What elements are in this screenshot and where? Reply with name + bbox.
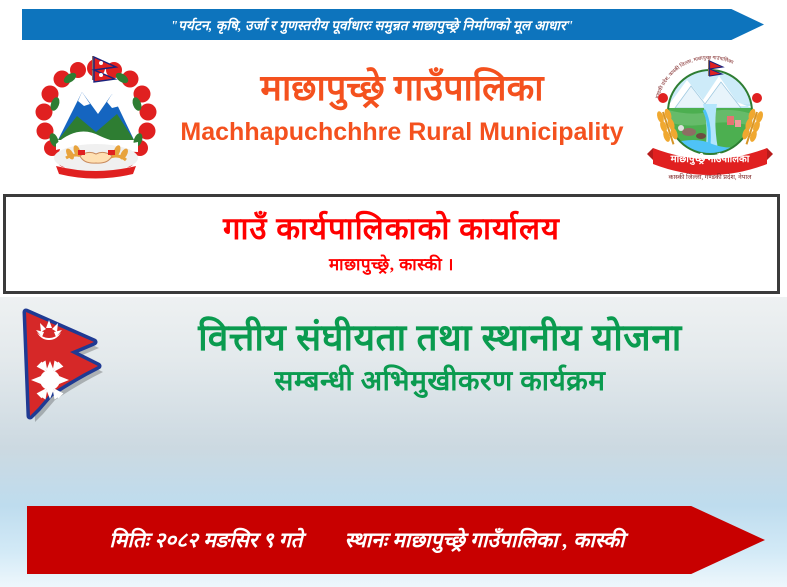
- footer-details: मितिः २०८२ मङसिर ९ गते स्थानः माछापुच्छ्…: [27, 506, 707, 574]
- nepal-flag-icon: [16, 306, 120, 428]
- nepal-government-emblem-icon: [22, 54, 170, 182]
- slogan-banner: "पर्यटन, कृषि, उर्जा र गुणस्तरीय पूर्वाध…: [0, 0, 787, 48]
- municipality-name-english: Machhapuchchhre Rural Municipality: [172, 116, 632, 148]
- event-date: मितिः २०८२ मङसिर ९ गते: [109, 526, 302, 554]
- event-venue: स्थानः माछापुच्छ्रे गाउँपालिका , कास्की: [345, 526, 625, 554]
- machhapuchchhre-municipality-emblem-icon: गण्डकी प्रदेश, कास्की जिल्ला, माछापुच्छ्…: [641, 56, 779, 184]
- header-title-group: माछापुच्छ्रे गाउँपालिका Machhapuchchhre …: [172, 66, 632, 148]
- program-title-line1: वित्तीय संघीयता तथा स्थानीय योजना: [110, 315, 770, 363]
- program-title-line2: सम्बन्धी अभिमुखीकरण कार्यक्रम: [110, 363, 770, 401]
- office-location: माछापुच्छ्रे, कास्की ।: [6, 254, 777, 276]
- municipality-name-nepali: माछापुच्छ्रे गाउँपालिका: [172, 66, 632, 110]
- slogan-text: "पर्यटन, कृषि, उर्जा र गुणस्तरीय पूर्वाध…: [22, 9, 722, 40]
- poster-header: माछापुच्छ्रे गाउँपालिका Machhapuchchhre …: [0, 48, 787, 188]
- program-title-group: वित्तीय संघीयता तथा स्थानीय योजना सम्बन्…: [110, 315, 770, 401]
- office-name-box: गाउँ कार्यपालिकाको कार्यालय माछापुच्छ्रे…: [3, 194, 780, 294]
- svg-text:कास्की जिल्ला, गण्डकी प्रदेश,: कास्की जिल्ला, गण्डकी प्रदेश, नेपाल: [668, 173, 752, 181]
- svg-text:माछापुच्छ्रे गाउँपालिका: माछापुच्छ्रे गाउँपालिका: [670, 152, 750, 165]
- office-title: गाउँ कार्यपालिकाको कार्यालय: [6, 210, 777, 248]
- event-poster: "पर्यटन, कृषि, उर्जा र गुणस्तरीय पूर्वाध…: [0, 0, 787, 587]
